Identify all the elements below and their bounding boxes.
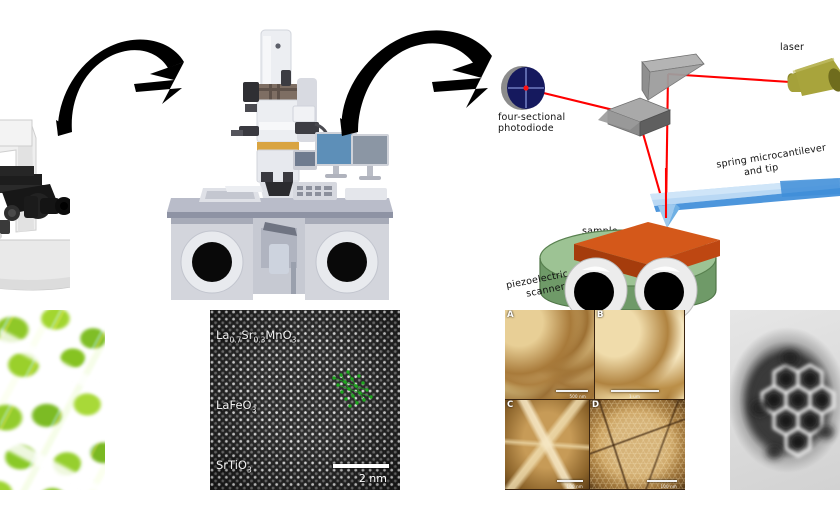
afm-panel-d: D 100 nm	[590, 400, 685, 489]
afm-panel-a-scale-bar	[556, 390, 588, 393]
lower-mirror-icon	[598, 98, 670, 136]
upper-mirror-icon	[642, 54, 704, 100]
afm-panel-d-label: D	[592, 400, 599, 410]
afm-schematic-diagram: four-sectional photodiode	[490, 18, 840, 308]
afm-panel-a: A 500 nm	[505, 310, 594, 399]
photodiode-label-line2: photodiode	[498, 123, 554, 134]
afm-panel-c-label: C	[507, 400, 513, 410]
afm-panel-c-scale-text: 100 nm	[566, 484, 583, 489]
afm-panel-b: B 1 um	[595, 310, 684, 399]
hrtem-lattice-micrograph: La0.7Sr0.3MnO3 LaFeO3 SrTiO3 2 nm	[210, 310, 400, 490]
hrtem-scale-bar	[333, 464, 389, 468]
hrtem-scale-bar-label: 2 nm	[359, 472, 387, 485]
photodiode-label-line1: four-sectional	[498, 112, 565, 123]
afm-panel-b-label: B	[597, 310, 603, 320]
laser-label: laser	[780, 42, 804, 53]
four-sectional-photodiode-icon	[501, 66, 545, 110]
afm-panel-a-scale-text: 500 nm	[569, 394, 586, 399]
figure-canvas: four-sectional photodiode	[0, 0, 840, 520]
afm-panel-d-scale-bar	[647, 480, 677, 483]
afm-panel-c: C 100 nm	[505, 400, 589, 489]
molecular-ring-structure	[730, 310, 840, 490]
molecular-afm-micrograph	[730, 310, 840, 490]
plant-cell-optical-micrograph	[0, 310, 105, 490]
hrtem-layer-label-top: La0.7Sr0.3MnO3	[216, 328, 296, 344]
cantilever-label: spring microcantilever and tip	[716, 142, 829, 182]
hrtem-layer-label-mid: LaFeO3	[216, 398, 256, 414]
arrow-2-icon	[332, 24, 502, 142]
afm-panel-b-scale-bar	[611, 390, 659, 393]
afm-panel-d-scale-text: 100 nm	[660, 484, 677, 489]
laser-icon	[785, 58, 840, 96]
afm-panel-a-label: A	[507, 310, 514, 320]
microcantilever-icon	[650, 178, 840, 228]
hrtem-layer-label-bottom: SrTiO3	[216, 458, 252, 474]
afm-panel-b-scale-text: 1 um	[629, 394, 640, 399]
afm-topography-quad-panel: A 500 nm B 1 um C 100 nm D 100 nm	[505, 310, 685, 490]
unit-cell-overlay	[328, 370, 376, 412]
afm-panel-c-scale-bar	[557, 480, 583, 483]
